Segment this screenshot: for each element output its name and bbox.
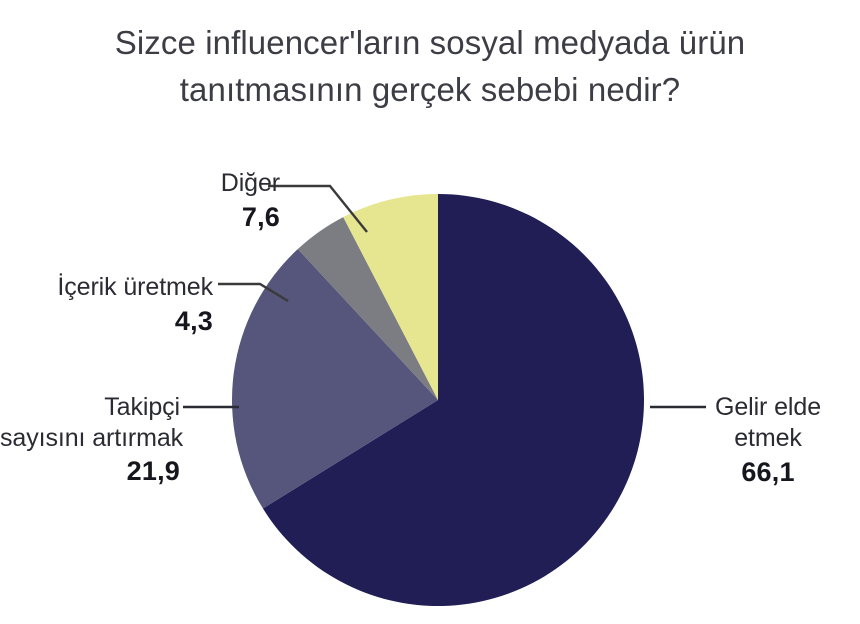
- pie-chart-figure: Sizce influencer'ların sosyal medyada ür…: [0, 0, 860, 624]
- slice-label-diger-name: Diğer: [60, 168, 280, 199]
- slice-label-gelir-name-line-2: etmek: [688, 423, 848, 454]
- slice-value-icerik-uretmek: 4,3: [0, 305, 213, 338]
- slice-value-takipci: 21,9: [0, 455, 180, 488]
- slice-label-icerik-uretmek: İçerik üretmek 4,3: [0, 272, 213, 337]
- slice-value-gelir-elde-etmek: 66,1: [688, 456, 848, 489]
- slice-label-takipci-name-line-1: Takipçi: [0, 392, 180, 423]
- slice-label-takipci-name-line-2: sayısını artırmak: [0, 423, 180, 454]
- slice-label-diger: Diğer 7,6: [60, 168, 280, 233]
- slice-value-diger: 7,6: [60, 201, 280, 234]
- slice-label-takipci: Takipçi sayısını artırmak 21,9: [0, 392, 180, 488]
- slice-label-gelir-elde-etmek: Gelir elde etmek 66,1: [688, 392, 848, 489]
- slice-label-gelir-name-line-1: Gelir elde: [688, 392, 848, 423]
- slice-label-icerik-uretmek-name: İçerik üretmek: [0, 272, 213, 303]
